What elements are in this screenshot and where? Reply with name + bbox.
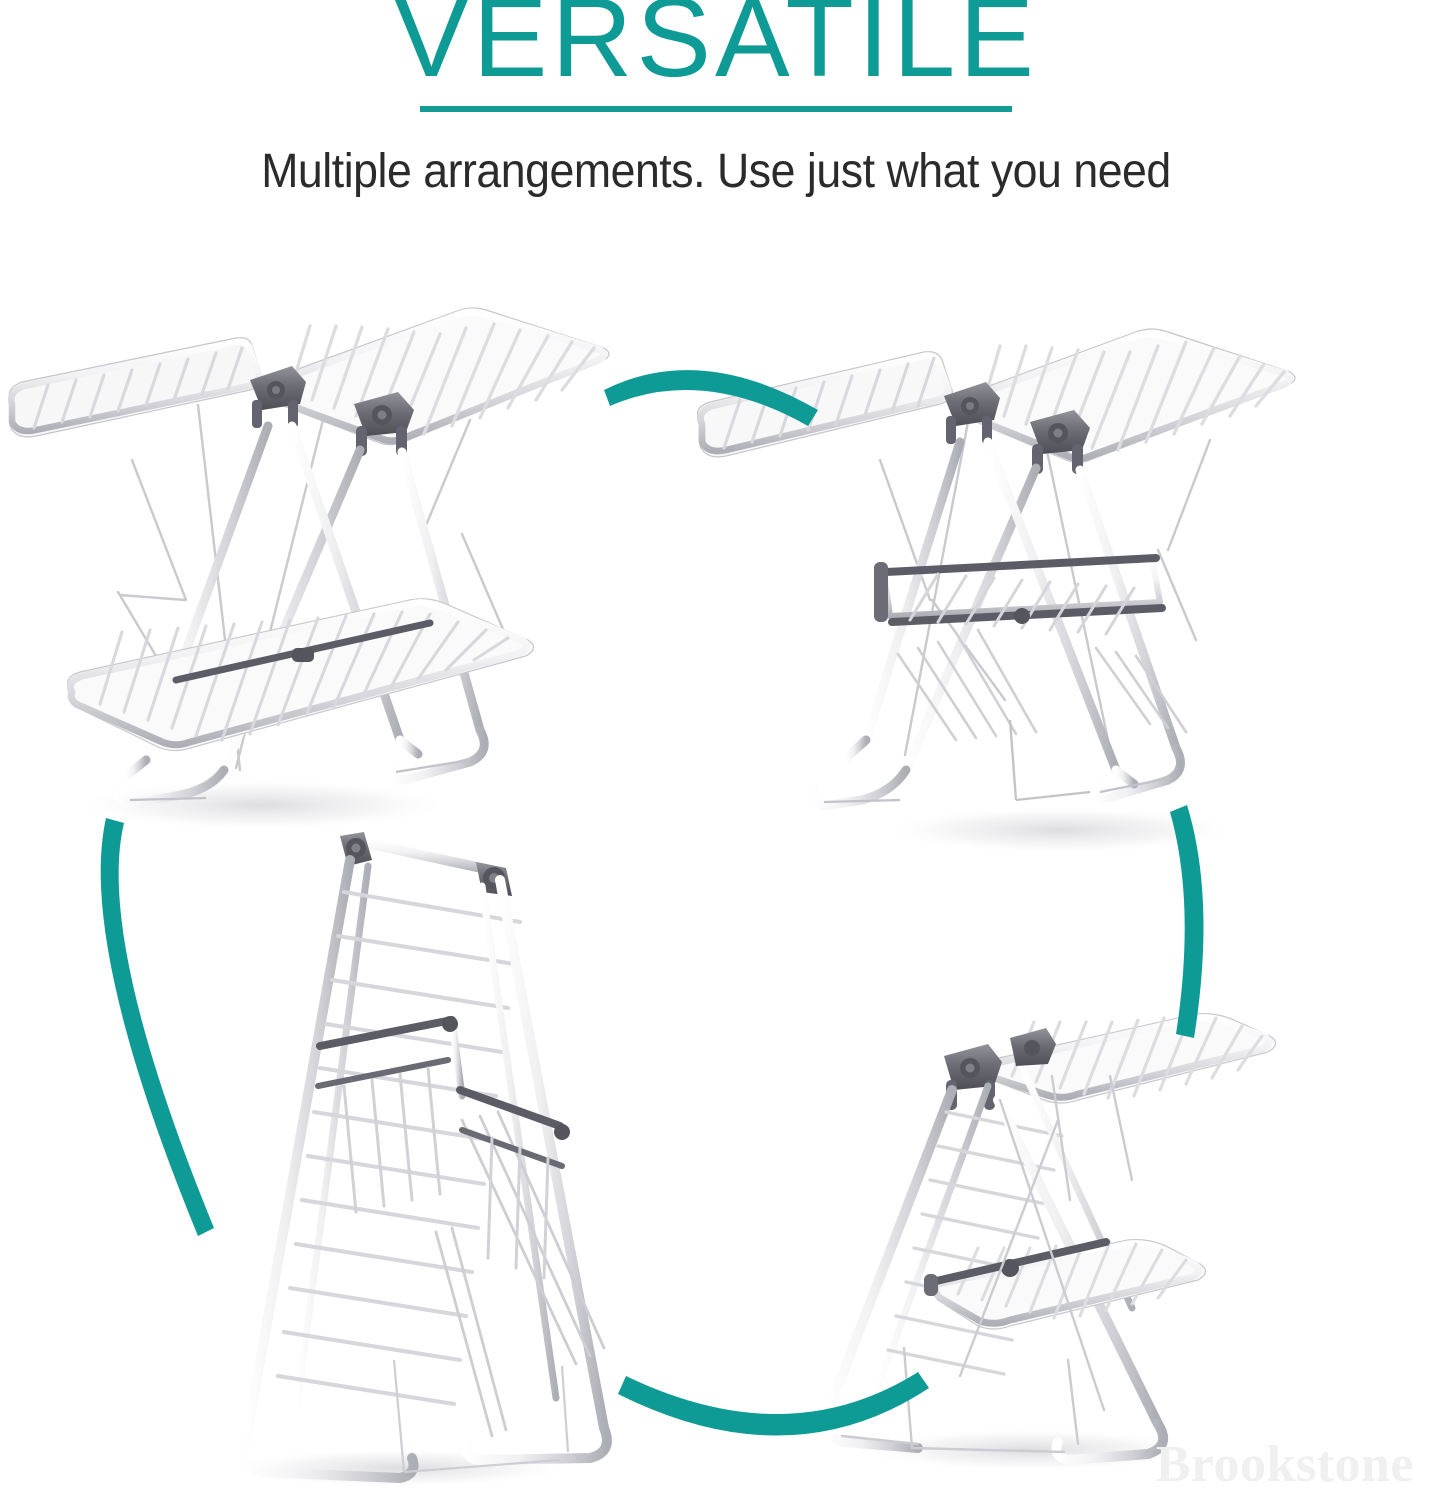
- rack1-left-wing: [9, 338, 262, 437]
- arc-left-icon: [101, 818, 214, 1236]
- rack2-left-wing: [698, 352, 953, 457]
- arrangement-3-bottom-left: [225, 832, 607, 1488]
- brand-watermark: Brookstone: [1156, 1435, 1414, 1494]
- rack1-second-hinge: [354, 392, 414, 456]
- rack2-right-wing: [957, 329, 1295, 463]
- arrangement-1-top-left: [9, 308, 609, 831]
- header-block: VERSATILE Multiple arrangements. Use jus…: [0, 0, 1432, 300]
- page-title: VERSATILE: [0, 0, 1432, 90]
- arrangements-diagram: [0, 300, 1432, 1500]
- rack2-second-hinge: [1030, 410, 1090, 474]
- page-subtitle: Multiple arrangements. Use just what you…: [50, 144, 1382, 199]
- title-divider: [420, 106, 1012, 112]
- rack4-lower-shelf: [924, 1240, 1206, 1329]
- rack1-right-wing: [263, 308, 609, 445]
- rack3-right-face: [436, 880, 607, 1460]
